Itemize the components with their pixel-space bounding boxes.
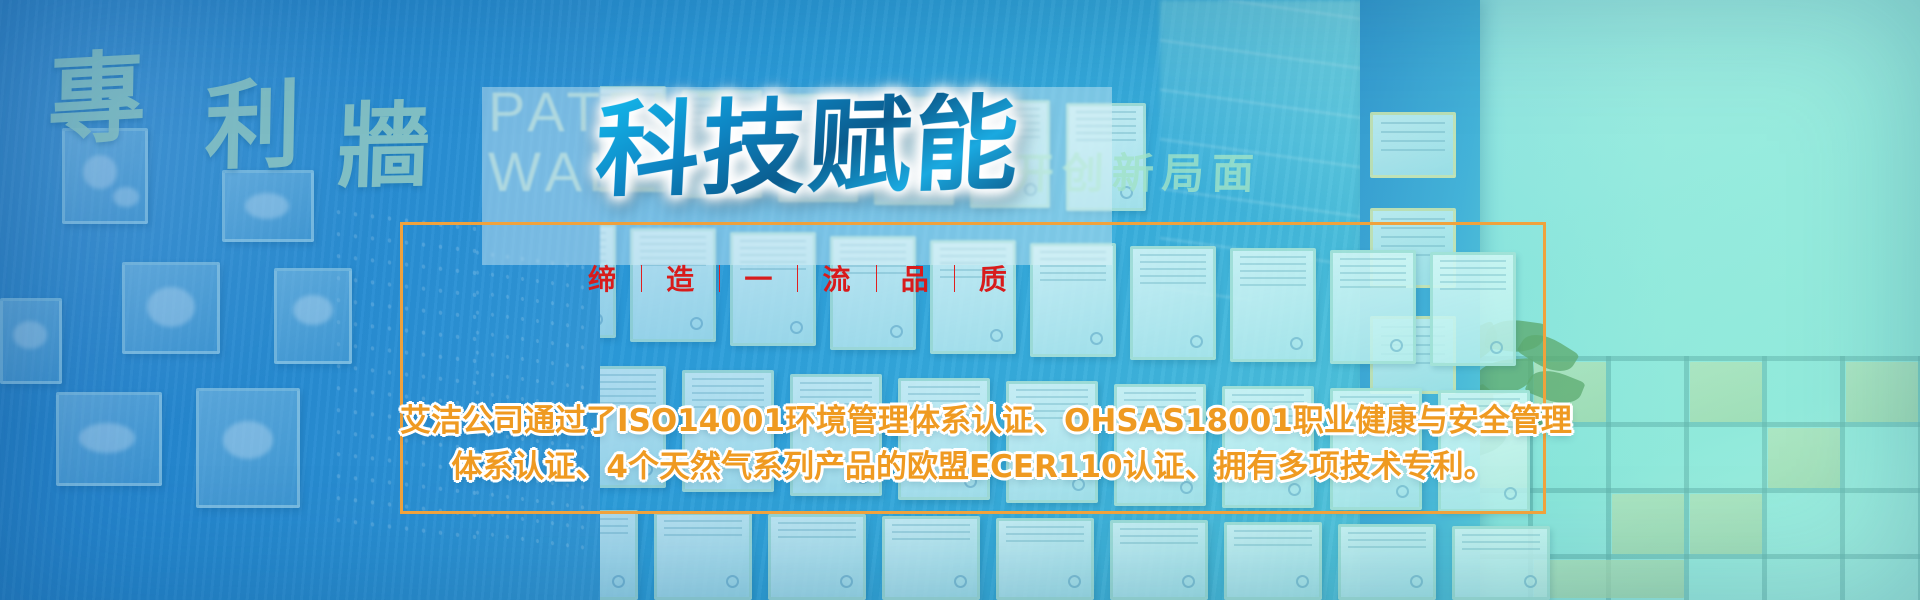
subtitle-word-2: 造 [666,258,695,298]
subtitle-word-4: 流 [823,258,852,298]
text-overlay: 科技赋能 缔 造 一 流 品 质 艾洁公司通过了ISO14001环境管理体系认证… [0,0,1920,600]
body-description: 艾洁公司通过了ISO14001环境管理体系认证、OHSAS18001职业健康与安… [400,398,1546,490]
subtitle-separator [797,265,798,292]
subtitle-slogan: 缔 造 一 流 品 质 [588,258,1008,298]
subtitle-word-3: 一 [744,258,773,298]
subtitle-separator [954,265,955,292]
subtitle-separator [719,265,720,292]
subtitle-separator [876,265,877,292]
patent-wall-banner: 專 利 牆 PATENT WALL 开创新局面 科技赋能 缔 造 一 流 品 质 [0,0,1920,600]
subtitle-separator [641,265,642,292]
body-line-2: 体系认证、4个天然气系列产品的欧盟ECER110认证、拥有多项技术专利。 [400,444,1546,490]
subtitle-word-5: 品 [901,258,930,298]
page-title: 科技赋能 [593,91,1023,202]
subtitle-word-6: 质 [979,258,1008,298]
subtitle-word-1: 缔 [588,258,617,298]
body-line-1: 艾洁公司通过了ISO14001环境管理体系认证、OHSAS18001职业健康与安… [400,398,1546,444]
